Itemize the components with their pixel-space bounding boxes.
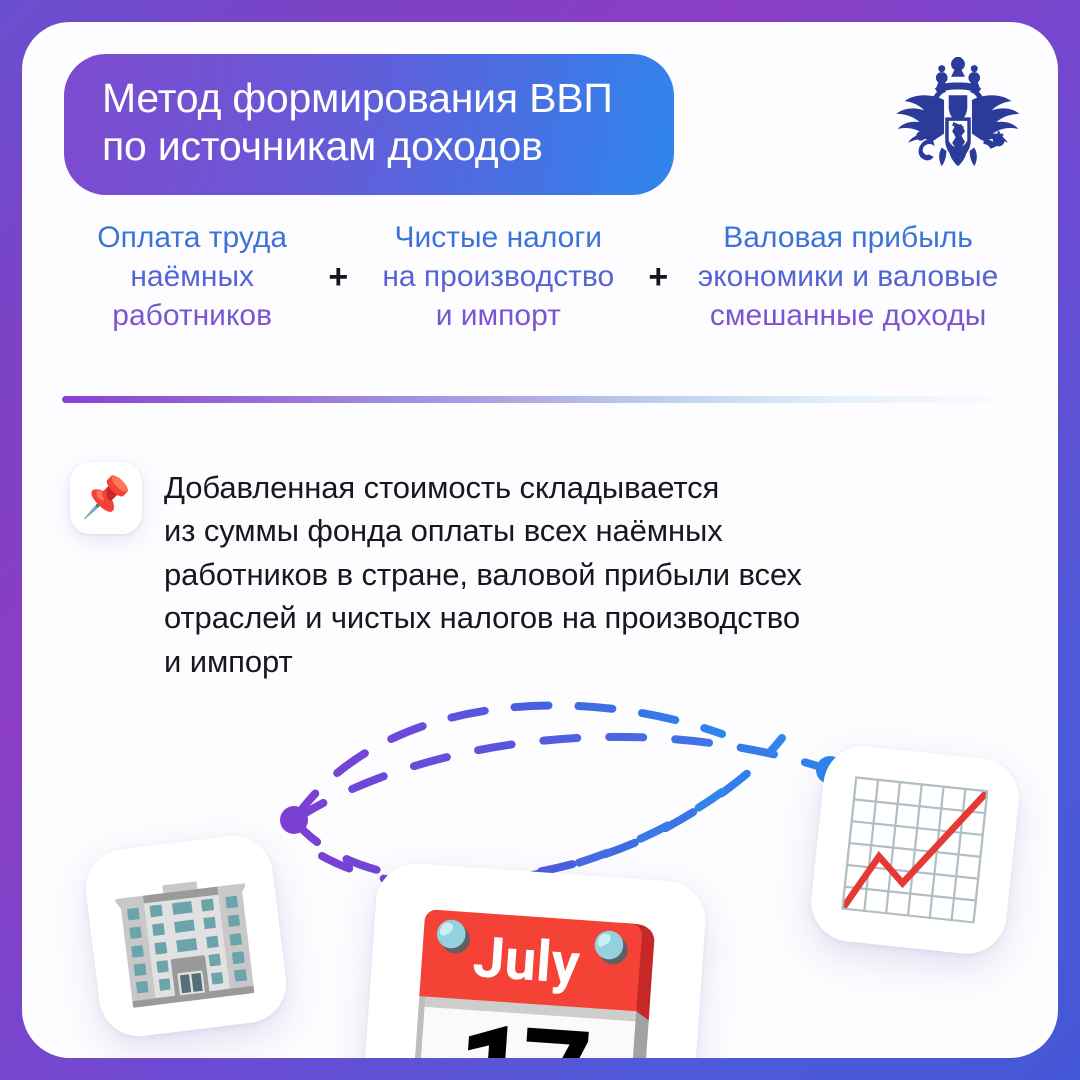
- infographic-stage: Метод формирования ВВП по источникам дох…: [0, 0, 1080, 1080]
- page-title: Метод формирования ВВП по источникам дох…: [102, 74, 636, 171]
- path-start-dot: [280, 806, 308, 834]
- section-divider: [62, 396, 1022, 403]
- spiral-calendar-icon: 📆: [356, 861, 708, 1058]
- content-card: Метод формирования ВВП по источникам дох…: [22, 22, 1058, 1058]
- formula-term-labor: Оплата труда наёмных работников: [62, 218, 322, 335]
- pushpin-icon: 📌: [70, 462, 142, 534]
- title-badge: Метод формирования ВВП по источникам дох…: [64, 54, 674, 195]
- chart-increasing-icon: 📈: [807, 742, 1022, 957]
- office-building-icon: 🏢: [81, 831, 291, 1041]
- formula-plus-operator-2: +: [646, 260, 670, 294]
- formula-plus-operator-1: +: [326, 260, 350, 294]
- formula-term-gross-profit: Валовая прибыль экономики и валовые смеш…: [674, 218, 1022, 335]
- gdp-formula: Оплата труда наёмных работников + Чистые…: [62, 218, 1022, 335]
- russian-double-headed-eagle-emblem: [888, 57, 1028, 187]
- illustration-area: 🏢 📆 📈: [22, 642, 1058, 1058]
- formula-term-net-taxes: Чистые налоги на производство и импорт: [354, 218, 642, 335]
